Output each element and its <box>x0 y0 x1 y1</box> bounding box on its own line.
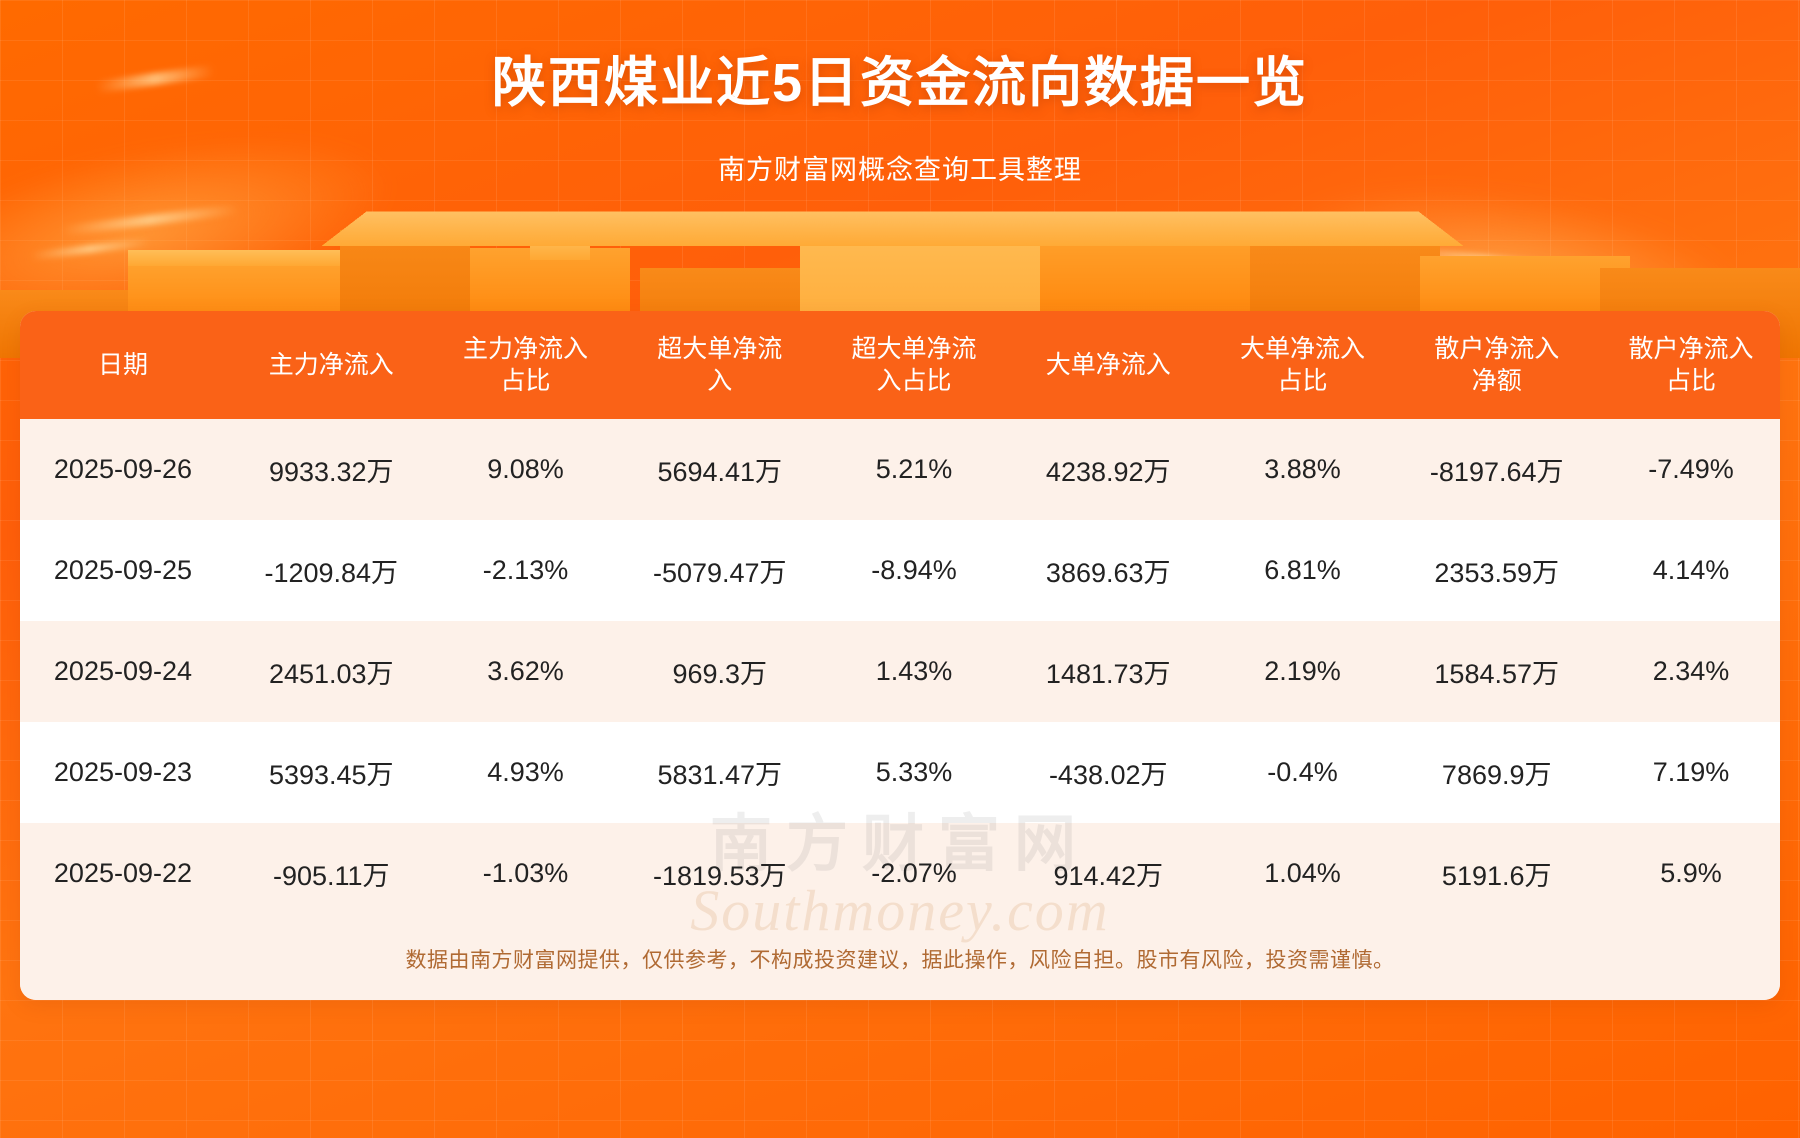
cell-retail-net-inflow-ratio: 4.14% <box>1602 520 1780 621</box>
cell-retail-net-inflow-amount: -8197.64万 <box>1391 419 1602 520</box>
table-row: 2025-09-26 9933.32万 9.08% 5694.41万 5.21%… <box>20 419 1780 520</box>
column-header-date[interactable]: 日期 <box>20 311 226 419</box>
cell-date: 2025-09-25 <box>20 520 226 621</box>
cell-retail-net-inflow-amount: 7869.9万 <box>1391 722 1602 823</box>
podium-plate <box>322 211 1464 245</box>
cell-main-net-inflow: 2451.03万 <box>226 621 437 722</box>
cell-large-net-inflow-ratio: 2.19% <box>1214 621 1392 722</box>
cell-main-net-inflow-ratio: 4.93% <box>437 722 615 823</box>
column-header-main-net-inflow-ratio[interactable]: 主力净流入 占比 <box>437 311 615 419</box>
page-subtitle: 南方财富网概念查询工具整理 <box>0 148 1800 187</box>
cell-retail-net-inflow-amount: 1584.57万 <box>1391 621 1602 722</box>
cell-super-large-net-inflow-ratio: 5.33% <box>825 722 1003 823</box>
cell-main-net-inflow: 9933.32万 <box>226 419 437 520</box>
cell-large-net-inflow-ratio: 1.04% <box>1214 823 1392 924</box>
column-header-super-large-net-inflow[interactable]: 超大单净流 入 <box>614 311 825 419</box>
cell-main-net-inflow: -1209.84万 <box>226 520 437 621</box>
cell-retail-net-inflow-ratio: 5.9% <box>1602 823 1780 924</box>
cell-super-large-net-inflow: -1819.53万 <box>614 823 825 924</box>
cell-main-net-inflow: -905.11万 <box>226 823 437 924</box>
column-header-retail-net-inflow-amount[interactable]: 散户净流入 净额 <box>1391 311 1602 419</box>
table-row: 2025-09-24 2451.03万 3.62% 969.3万 1.43% 1… <box>20 621 1780 722</box>
fund-flow-table: 日期 主力净流入 主力净流入 占比 超大单净流 入 超大单净流 入占比 <box>20 311 1780 924</box>
table-row: 2025-09-25 -1209.84万 -2.13% -5079.47万 -8… <box>20 520 1780 621</box>
cell-date: 2025-09-24 <box>20 621 226 722</box>
cell-super-large-net-inflow: 5694.41万 <box>614 419 825 520</box>
cell-large-net-inflow: 1481.73万 <box>1003 621 1214 722</box>
page-title: 陕西煤业近5日资金流向数据一览 <box>0 38 1800 117</box>
disclaimer-text: 数据由南方财富网提供，仅供参考，不构成投资建议，据此操作，风险自担。股市有风险，… <box>20 924 1780 1000</box>
cell-date: 2025-09-23 <box>20 722 226 823</box>
column-header-main-net-inflow[interactable]: 主力净流入 <box>226 311 437 419</box>
cell-super-large-net-inflow-ratio: 5.21% <box>825 419 1003 520</box>
cell-super-large-net-inflow-ratio: -2.07% <box>825 823 1003 924</box>
podium-block-top <box>128 250 340 266</box>
cell-large-net-inflow: 914.42万 <box>1003 823 1214 924</box>
cell-large-net-inflow-ratio: 6.81% <box>1214 520 1392 621</box>
cell-super-large-net-inflow: -5079.47万 <box>614 520 825 621</box>
cell-main-net-inflow-ratio: 3.62% <box>437 621 615 722</box>
cell-large-net-inflow: -438.02万 <box>1003 722 1214 823</box>
cell-large-net-inflow: 4238.92万 <box>1003 419 1214 520</box>
column-header-large-net-inflow-ratio[interactable]: 大单净流入 占比 <box>1214 311 1392 419</box>
table-body: 2025-09-26 9933.32万 9.08% 5694.41万 5.21%… <box>20 419 1780 924</box>
cell-super-large-net-inflow-ratio: -8.94% <box>825 520 1003 621</box>
cell-retail-net-inflow-ratio: -7.49% <box>1602 419 1780 520</box>
cell-super-large-net-inflow: 969.3万 <box>614 621 825 722</box>
cell-retail-net-inflow-ratio: 7.19% <box>1602 722 1780 823</box>
table-header-row: 日期 主力净流入 主力净流入 占比 超大单净流 入 超大单净流 入占比 <box>20 311 1780 419</box>
cell-super-large-net-inflow-ratio: 1.43% <box>825 621 1003 722</box>
cell-main-net-inflow-ratio: -1.03% <box>437 823 615 924</box>
table-row: 2025-09-22 -905.11万 -1.03% -1819.53万 -2.… <box>20 823 1780 924</box>
cell-large-net-inflow-ratio: 3.88% <box>1214 419 1392 520</box>
cell-large-net-inflow-ratio: -0.4% <box>1214 722 1392 823</box>
cell-retail-net-inflow-ratio: 2.34% <box>1602 621 1780 722</box>
table-row: 2025-09-23 5393.45万 4.93% 5831.47万 5.33%… <box>20 722 1780 823</box>
cell-main-net-inflow-ratio: 9.08% <box>437 419 615 520</box>
cell-large-net-inflow: 3869.63万 <box>1003 520 1214 621</box>
data-table-card: 南方财富网 Southmoney.com 日期 主力净流入 主力净流入 占比 超 <box>20 311 1780 1000</box>
column-header-large-net-inflow[interactable]: 大单净流入 <box>1003 311 1214 419</box>
cell-main-net-inflow: 5393.45万 <box>226 722 437 823</box>
column-header-retail-net-inflow-ratio[interactable]: 散户净流入 占比 <box>1602 311 1780 419</box>
cell-main-net-inflow-ratio: -2.13% <box>437 520 615 621</box>
cell-super-large-net-inflow: 5831.47万 <box>614 722 825 823</box>
cell-retail-net-inflow-amount: 5191.6万 <box>1391 823 1602 924</box>
cell-date: 2025-09-26 <box>20 419 226 520</box>
cell-date: 2025-09-22 <box>20 823 226 924</box>
column-header-super-large-net-inflow-ratio[interactable]: 超大单净流 入占比 <box>825 311 1003 419</box>
cell-retail-net-inflow-amount: 2353.59万 <box>1391 520 1602 621</box>
